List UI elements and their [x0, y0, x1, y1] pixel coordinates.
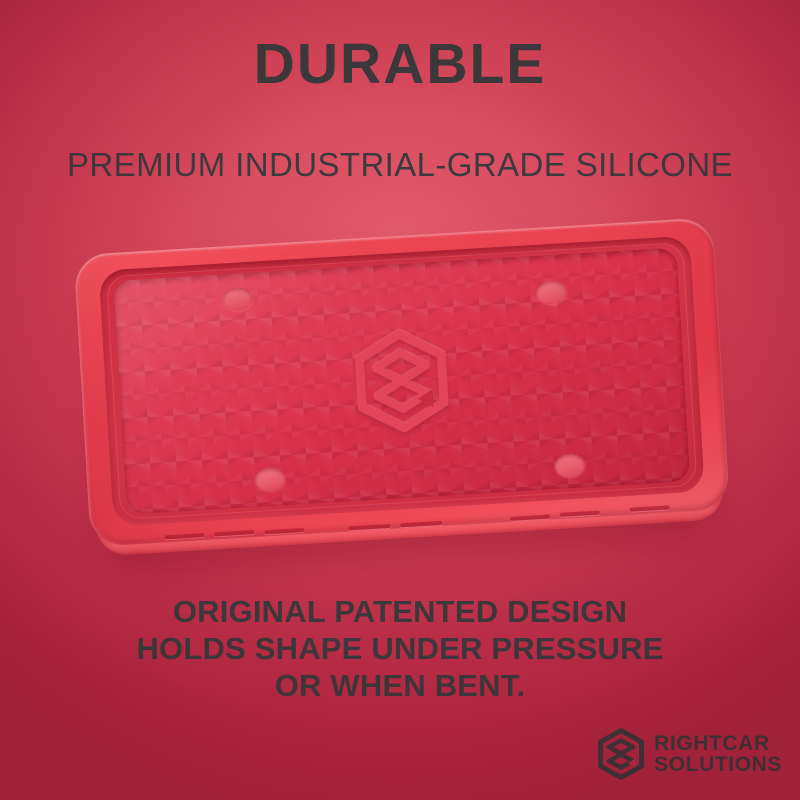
- page-title: DURABLE: [0, 36, 800, 93]
- brand-wordmark-line-1: RIGHTCAR: [654, 733, 782, 754]
- brand-wordmark-line-2: SOLUTIONS: [654, 754, 782, 775]
- feature-copy-line-3: OR WHEN BENT.: [0, 667, 800, 704]
- feature-copy: ORIGINAL PATENTED DESIGN HOLDS SHAPE UND…: [0, 593, 800, 704]
- product-image-license-plate-frame: [74, 217, 731, 554]
- feature-copy-line-2: HOLDS SHAPE UNDER PRESSURE: [0, 630, 800, 667]
- embossed-hexagon-emblem-icon: [351, 326, 453, 436]
- brand-wordmark: RIGHTCAR SOLUTIONS: [654, 733, 782, 775]
- feature-copy-line-1: ORIGINAL PATENTED DESIGN: [0, 593, 800, 630]
- plate-inner-panel: [113, 247, 690, 514]
- hexagon-logo-icon: [597, 728, 645, 780]
- brand-logo: RIGHTCAR SOLUTIONS: [597, 728, 782, 780]
- subtitle: PREMIUM INDUSTRIAL-GRADE SILICONE: [0, 148, 800, 181]
- promo-graphic: DURABLE PREMIUM INDUSTRIAL-GRADE SILICON…: [0, 0, 800, 800]
